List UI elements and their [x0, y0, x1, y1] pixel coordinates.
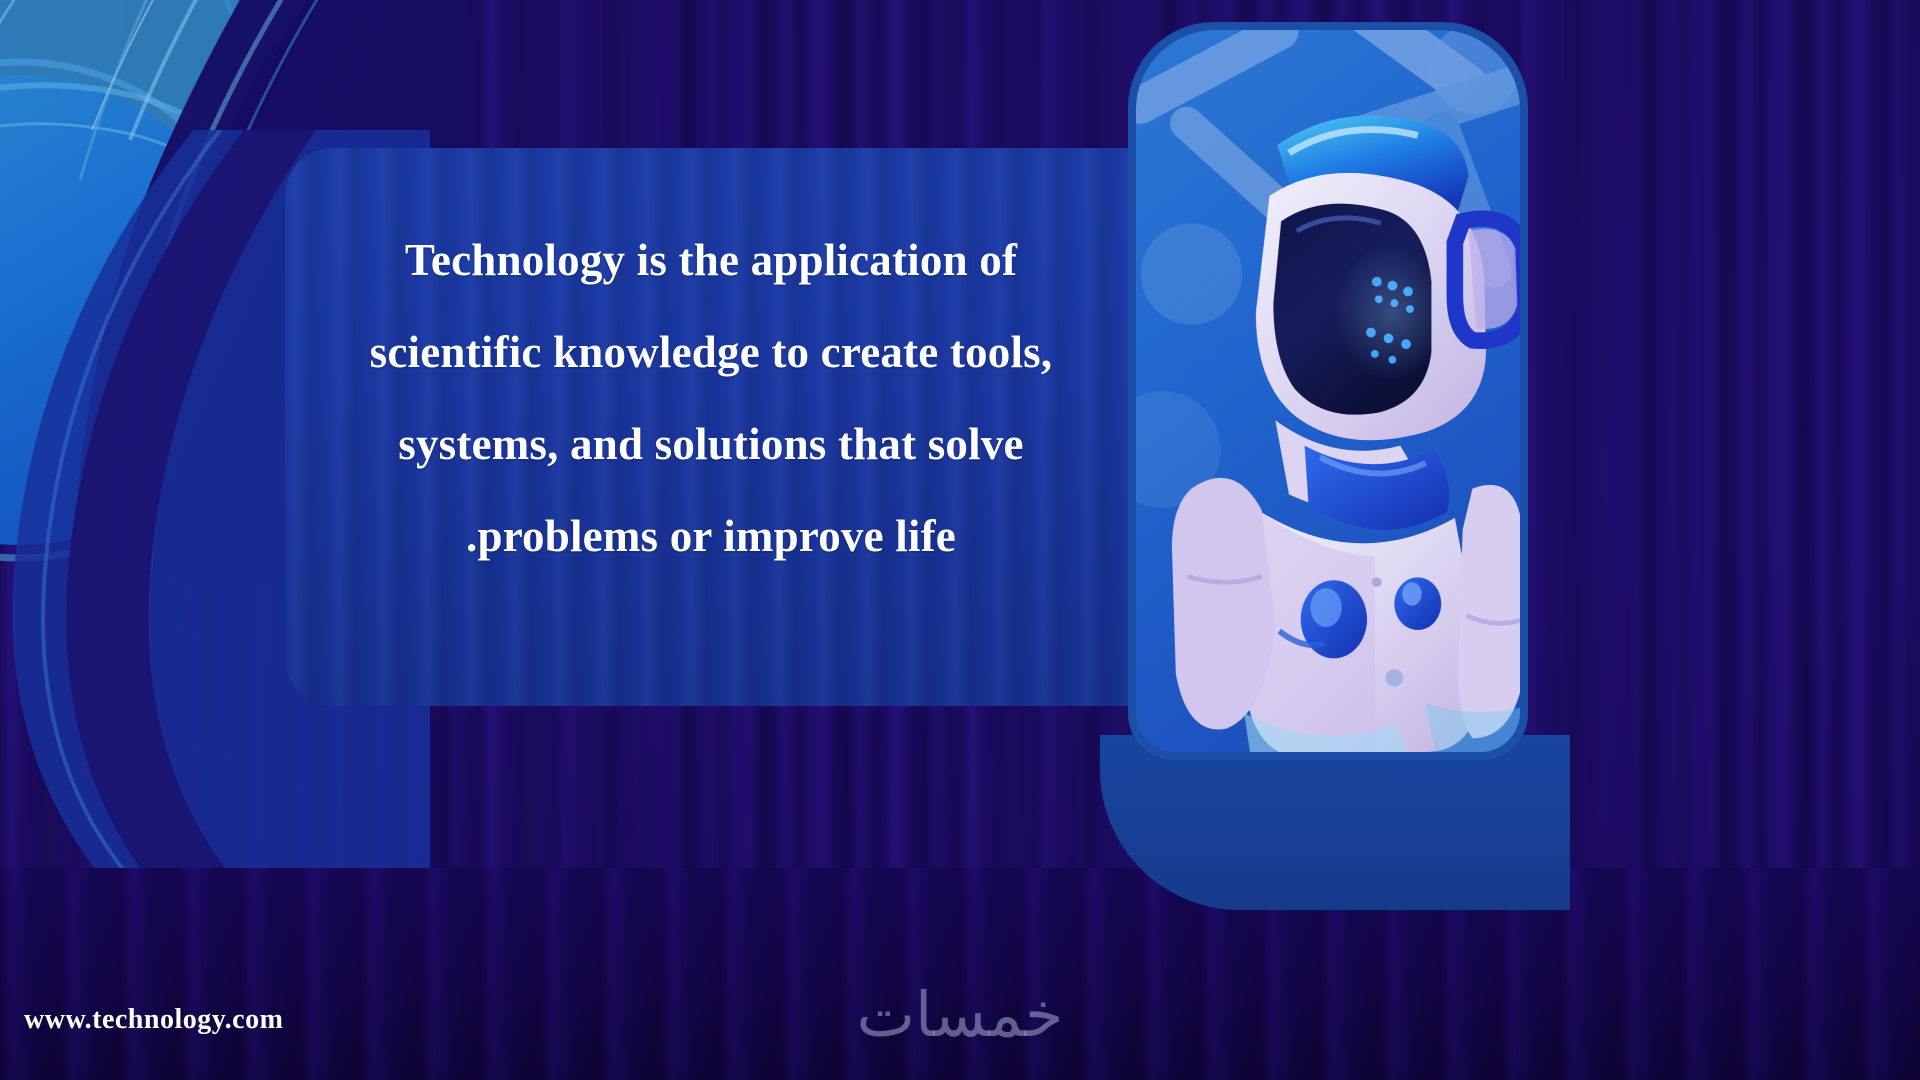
footer-band-stripes [0, 868, 1920, 1080]
quote-line-1: Technology is the application of [327, 214, 1095, 306]
photo-shelf [1100, 735, 1570, 910]
robot-photo [1136, 30, 1520, 752]
poster-stage: Technology is the application of scienti… [0, 0, 1920, 1080]
quote-line-4: .problems or improve life [327, 490, 1095, 582]
footer-band [0, 868, 1920, 1080]
quote-line-2: scientific knowledge to create tools, [327, 306, 1095, 398]
robot-photo-icon [1136, 30, 1520, 752]
robot-photo-frame [1128, 22, 1528, 760]
quote-card: Technology is the application of scienti… [285, 148, 1137, 706]
quote-text: Technology is the application of scienti… [285, 148, 1137, 582]
quote-line-3: systems, and solutions that solve [327, 398, 1095, 490]
website-url[interactable]: www.technology.com [24, 1004, 283, 1036]
